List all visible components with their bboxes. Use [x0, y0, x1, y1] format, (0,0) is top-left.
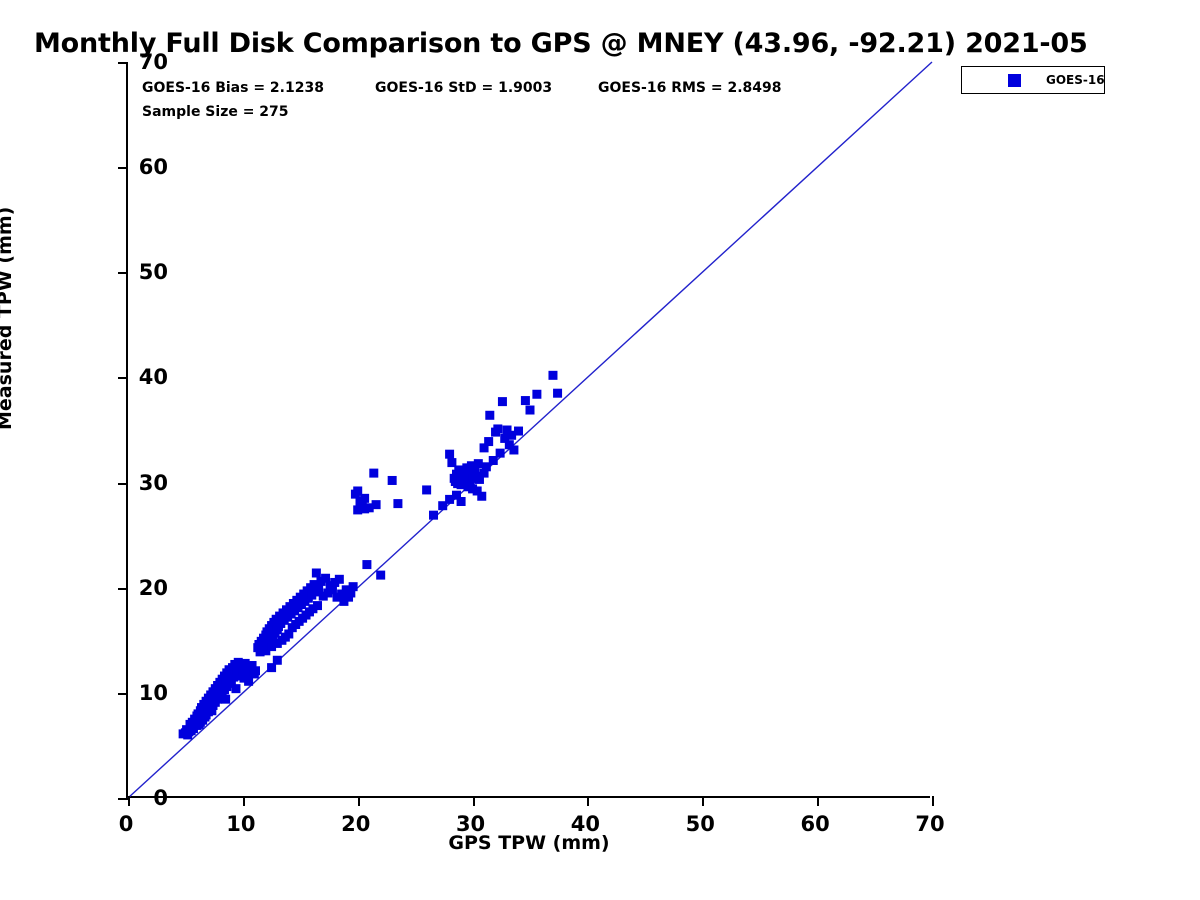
data-point	[457, 497, 466, 506]
data-point	[485, 411, 494, 420]
x-tick-30	[473, 796, 475, 806]
data-point	[393, 499, 402, 508]
data-point	[553, 389, 562, 398]
data-point	[445, 450, 454, 459]
data-point	[474, 459, 483, 468]
data-point	[313, 601, 322, 610]
x-axis-label: GPS TPW (mm)	[0, 832, 1058, 854]
stat-sample-size: Sample Size = 275	[142, 104, 289, 120]
x-tick-70	[932, 796, 934, 806]
data-point	[244, 677, 253, 686]
legend: GOES-16	[961, 66, 1105, 94]
data-point	[526, 406, 535, 415]
x-tick-40	[587, 796, 589, 806]
data-point	[360, 494, 369, 503]
data-point	[548, 371, 557, 380]
data-point	[362, 560, 371, 569]
data-point	[496, 449, 505, 458]
data-point	[484, 437, 493, 446]
stat-bias: GOES-16 Bias = 2.1238	[142, 80, 324, 96]
data-point	[221, 695, 230, 704]
y-tick-label-0: 0	[108, 786, 168, 810]
y-tick-label-40: 40	[108, 365, 168, 389]
data-point	[349, 582, 358, 591]
y-axis-label: Measured TPW (mm)	[0, 207, 16, 430]
y-tick-label-70: 70	[108, 50, 168, 74]
data-point	[312, 568, 321, 577]
data-point	[521, 396, 530, 405]
plot-area	[126, 62, 930, 798]
data-point	[251, 666, 260, 675]
plot-canvas	[128, 62, 932, 798]
y-tick-label-10: 10	[108, 681, 168, 705]
data-point	[369, 469, 378, 478]
data-point	[335, 575, 344, 584]
data-point	[183, 730, 192, 739]
data-point	[532, 390, 541, 399]
y-tick-label-60: 60	[108, 155, 168, 179]
legend-swatch-goes16	[1008, 74, 1021, 87]
data-point	[388, 476, 397, 485]
y-tick-label-30: 30	[108, 471, 168, 495]
stat-rms: GOES-16 RMS = 2.8498	[598, 80, 782, 96]
data-markers-group	[179, 371, 562, 740]
x-tick-10	[243, 796, 245, 806]
legend-label-goes16: GOES-16	[1046, 73, 1105, 87]
data-point	[509, 445, 518, 454]
page-title: Monthly Full Disk Comparison to GPS @ MN…	[34, 28, 1088, 59]
x-tick-50	[702, 796, 704, 806]
one-to-one-line	[128, 62, 932, 798]
data-point	[376, 571, 385, 580]
data-point	[493, 424, 502, 433]
data-point	[514, 427, 523, 436]
data-point	[231, 684, 240, 693]
one-to-one-line	[128, 62, 932, 798]
data-point	[477, 492, 486, 501]
data-point	[422, 485, 431, 494]
x-tick-60	[817, 796, 819, 806]
x-tick-20	[358, 796, 360, 806]
data-point	[498, 397, 507, 406]
y-tick-label-50: 50	[108, 260, 168, 284]
stat-std: GOES-16 StD = 1.9003	[375, 80, 552, 96]
data-point	[372, 500, 381, 509]
data-point	[273, 656, 282, 665]
data-point	[429, 511, 438, 520]
data-point	[195, 720, 204, 729]
y-tick-label-20: 20	[108, 576, 168, 600]
scatter-plot-figure: Monthly Full Disk Comparison to GPS @ MN…	[0, 0, 1200, 900]
